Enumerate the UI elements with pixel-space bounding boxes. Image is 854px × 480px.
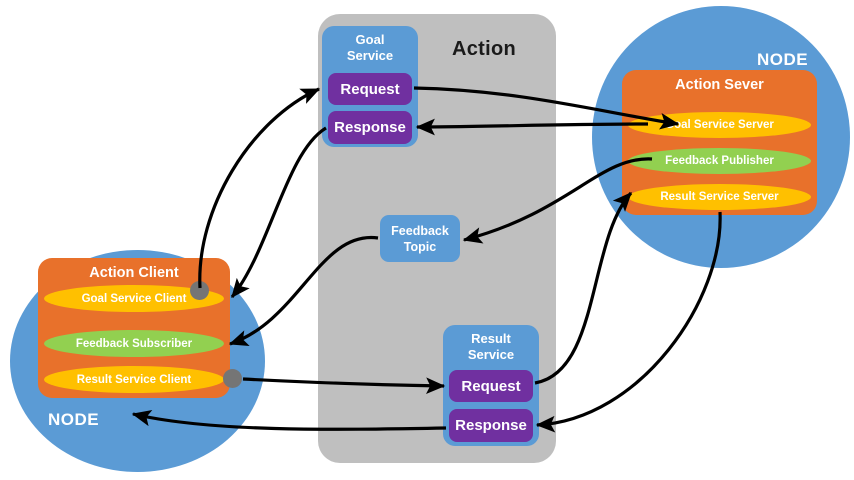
feedback-publisher-pill[interactable]: Feedback Publisher	[628, 148, 811, 174]
result-client-connector-dot	[223, 369, 242, 388]
result-service-title: Result Service	[443, 331, 539, 363]
goal-client-connector-dot	[190, 281, 209, 300]
result-service-response-box[interactable]: Response	[449, 409, 533, 442]
goal-service-title-line2: Service	[347, 48, 393, 63]
goal-service-request-box[interactable]: Request	[328, 73, 412, 105]
result-service-title-line1: Result	[471, 331, 511, 346]
goal-service-response-box[interactable]: Response	[328, 111, 412, 144]
result-service-request-box[interactable]: Request	[449, 370, 533, 402]
goal-service-server-pill[interactable]: Goal Service Server	[628, 112, 811, 138]
diagram-canvas: Action Action Client Goal Service Client…	[0, 0, 854, 480]
action-server-title: Action Sever	[622, 77, 817, 93]
result-service-title-line2: Service	[468, 347, 514, 362]
arrow-goal-response-to-client	[232, 128, 326, 297]
result-service-client-pill[interactable]: Result Service Client	[44, 366, 224, 393]
goal-service-title-line1: Goal	[356, 32, 385, 47]
feedback-subscriber-pill[interactable]: Feedback Subscriber	[44, 330, 224, 357]
action-client-title: Action Client	[38, 265, 230, 281]
action-panel-title: Action	[452, 38, 516, 61]
goal-service-title: Goal Service	[322, 32, 418, 64]
server-node-label: NODE	[757, 50, 808, 70]
client-node-label: NODE	[48, 410, 99, 430]
result-service-server-pill[interactable]: Result Service Server	[628, 184, 811, 210]
feedback-topic-box[interactable]: Feedback Topic	[380, 215, 460, 262]
feedback-topic-line1: Feedback	[391, 223, 449, 239]
feedback-topic-line2: Topic	[404, 239, 436, 255]
